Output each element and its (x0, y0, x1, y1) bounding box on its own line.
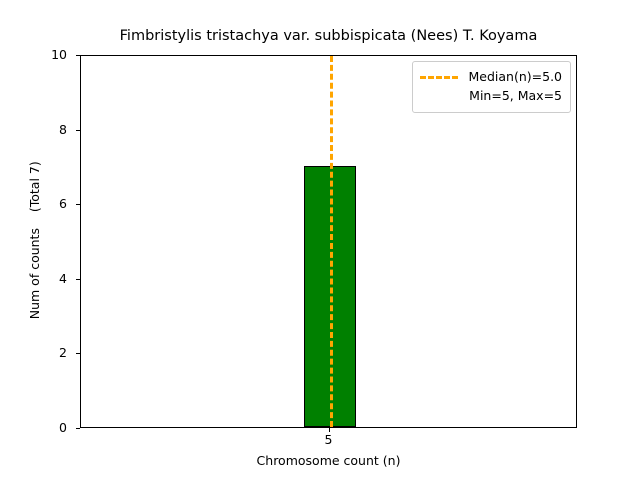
y-tick-label: 10 (51, 49, 67, 62)
x-axis-label: Chromosome count (n) (80, 455, 577, 468)
y-tick-mark (76, 428, 80, 429)
y-tick-label: 6 (59, 198, 67, 211)
legend-label: Median(n)=5.0 (465, 71, 562, 84)
legend-entry: Median(n)=5.0 (420, 68, 562, 87)
chart-title: Fimbristylis tristachya var. subbispicat… (80, 29, 577, 44)
y-tick-label: 4 (59, 273, 67, 286)
y-tick-label: 8 (59, 123, 67, 136)
y-tick-label: 0 (59, 422, 67, 435)
median-line-annotation (330, 56, 333, 427)
y-tick-mark (76, 353, 80, 354)
y-tick-mark (76, 204, 80, 205)
y-tick-label: 2 (59, 347, 67, 360)
legend-dashed-line-icon (420, 76, 458, 79)
y-axis-label: Num of counts (Total 7) (29, 0, 42, 480)
y-tick-mark (76, 55, 80, 56)
y-tick-mark (76, 130, 80, 131)
chart-figure: Fimbristylis tristachya var. subbispicat… (0, 0, 640, 480)
legend-label: Min=5, Max=5 (465, 90, 562, 103)
legend-entry: Min=5, Max=5 (420, 87, 562, 106)
chart-legend: Median(n)=5.0Min=5, Max=5 (412, 61, 571, 113)
x-tick-label: 5 (325, 434, 333, 447)
y-tick-mark (76, 279, 80, 280)
